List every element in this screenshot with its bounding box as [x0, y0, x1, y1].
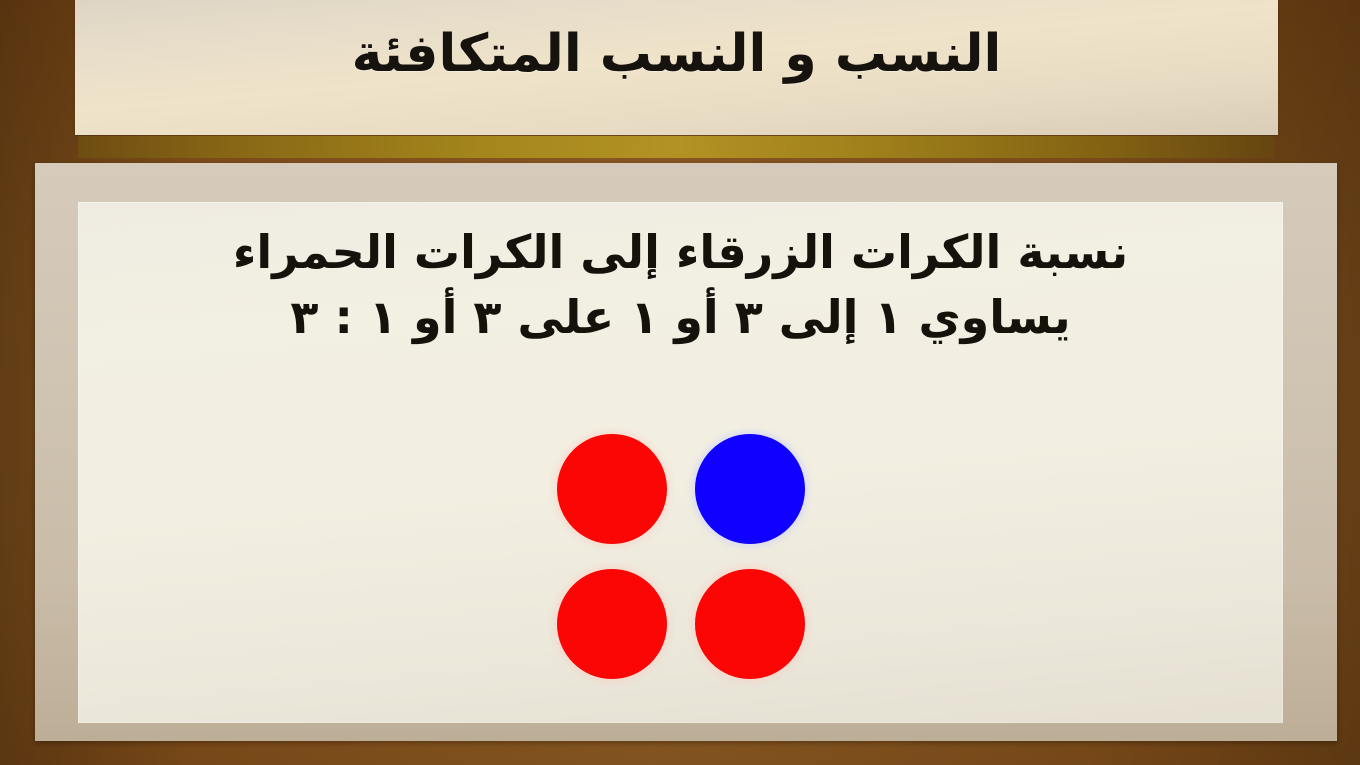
- blue-ball-icon: [695, 434, 805, 544]
- ball-row-1: [557, 434, 805, 544]
- statement-line-1: نسبة الكرات الزرقاء إلى الكرات الحمراء: [78, 220, 1283, 285]
- slide-title: النسب و النسب المتكافئة: [352, 27, 1002, 82]
- ball-grid-illustration: [78, 434, 1283, 679]
- red-ball-icon: [695, 569, 805, 679]
- red-ball-icon: [557, 434, 667, 544]
- statement-block: نسبة الكرات الزرقاء إلى الكرات الحمراء ي…: [78, 220, 1283, 351]
- slide-root: النسب و النسب المتكافئة نسبة الكرات الزر…: [0, 0, 1360, 765]
- statement-line-2: يساوي ١ إلى ٣ أو ١ على ٣ أو ١ : ٣: [78, 285, 1283, 350]
- gold-divider-band: [78, 136, 1275, 158]
- red-ball-icon: [557, 569, 667, 679]
- content-panel: نسبة الكرات الزرقاء إلى الكرات الحمراء ي…: [78, 202, 1283, 723]
- title-bar: النسب و النسب المتكافئة: [75, 0, 1278, 135]
- ball-row-2: [557, 569, 805, 679]
